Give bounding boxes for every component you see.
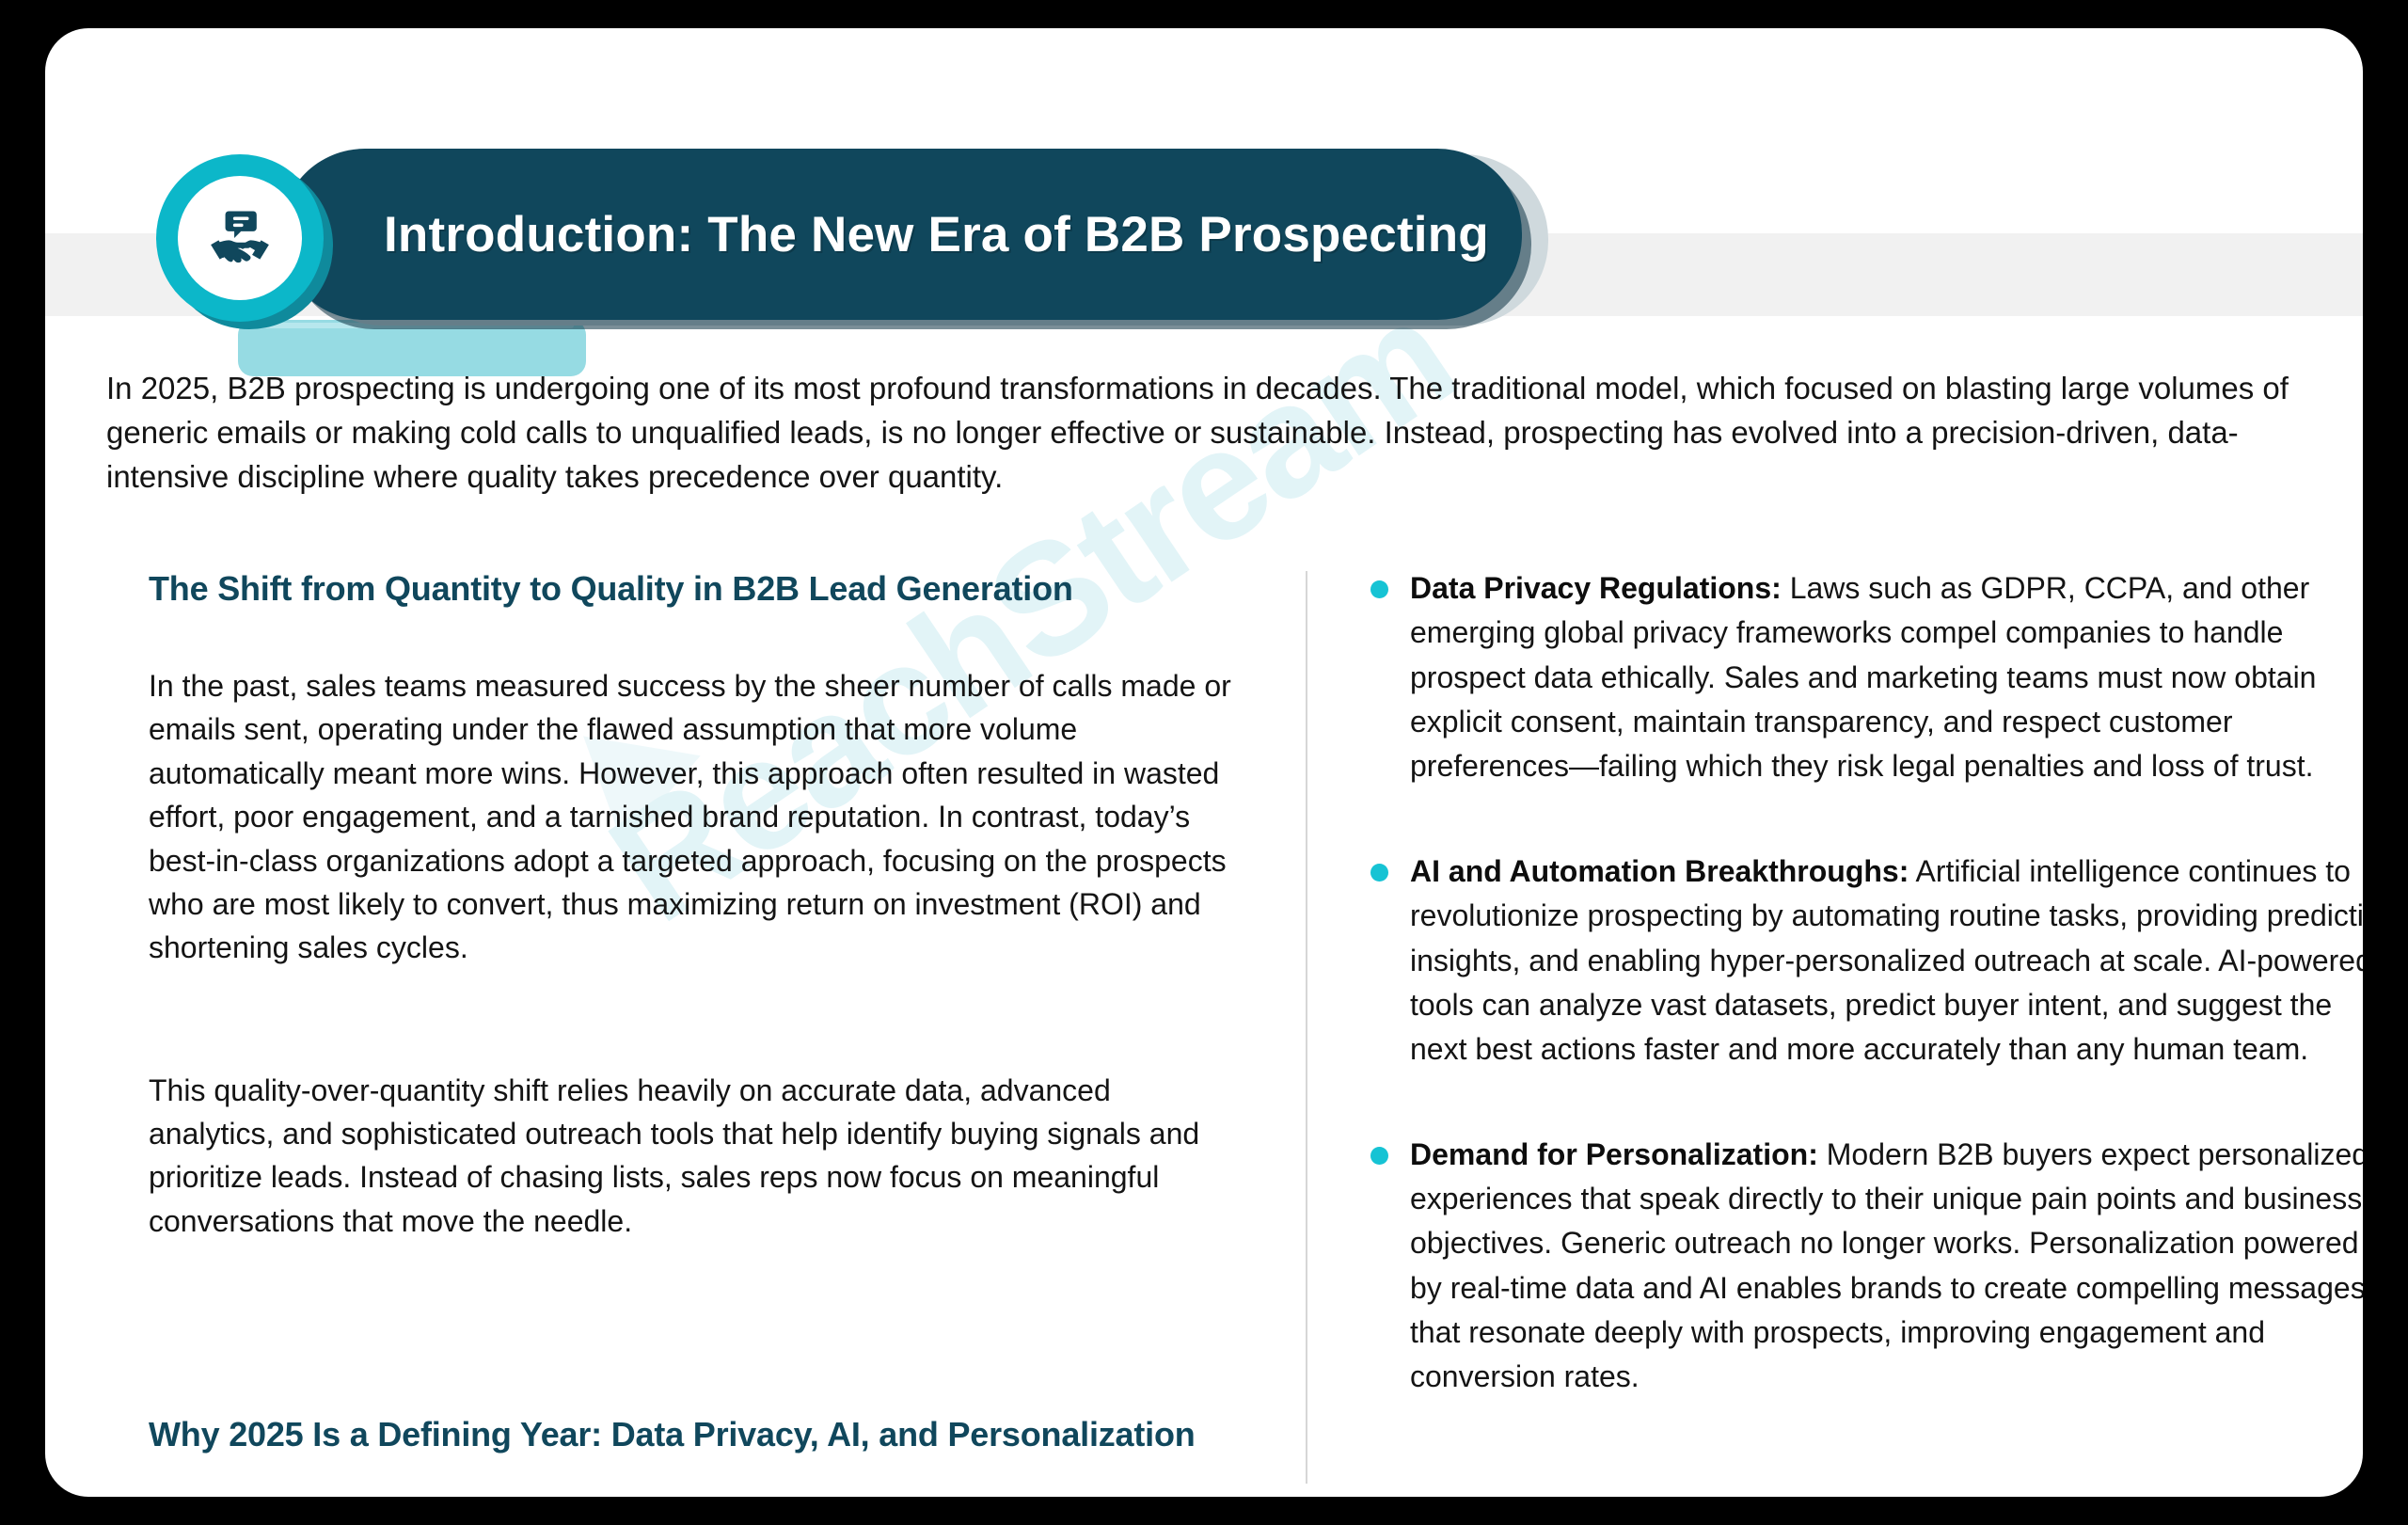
badge-inner-circle — [178, 176, 302, 300]
slide-card: ReachStream Introduction: The New Era of… — [45, 28, 2363, 1497]
bullet-body: Modern B2B buyers expect personalized ex… — [1410, 1137, 2363, 1394]
header-icon-badge — [156, 154, 324, 322]
bullet-lead: AI and Automation Breakthroughs: — [1410, 854, 1909, 888]
content-columns: The Shift from Quantity to Quality in B2… — [106, 566, 2307, 1484]
left-heading-1: The Shift from Quantity to Quality in B2… — [149, 566, 1235, 612]
slide-frame: ReachStream Introduction: The New Era of… — [0, 0, 2408, 1525]
left-column: The Shift from Quantity to Quality in B2… — [149, 566, 1235, 1497]
header-banner: Introduction: The New Era of B2B Prospec… — [280, 149, 1522, 320]
bullet-dot-icon — [1370, 580, 1388, 598]
left-paragraph-2: This quality-over-quantity shift relies … — [149, 1069, 1235, 1244]
left-paragraph-1: In the past, sales teams measured succes… — [149, 664, 1235, 970]
bullet-text: Data Privacy Regulations: Laws such as G… — [1410, 566, 2363, 789]
handshake-message-icon — [204, 202, 276, 274]
list-item: Demand for Personalization: Modern B2B b… — [1367, 1133, 2363, 1400]
intro-block: In 2025, B2B prospecting is undergoing o… — [106, 367, 2298, 500]
bullet-lead: Demand for Personalization: — [1410, 1137, 1818, 1171]
list-item: AI and Automation Breakthroughs: Artific… — [1367, 850, 2363, 1072]
intro-paragraph: In 2025, B2B prospecting is undergoing o… — [106, 367, 2298, 500]
list-item: Data Privacy Regulations: Laws such as G… — [1367, 566, 2363, 789]
bullet-dot-icon — [1370, 1147, 1388, 1165]
page-header: Introduction: The New Era of B2B Prospec… — [45, 141, 2363, 357]
bullet-text: AI and Automation Breakthroughs: Artific… — [1410, 850, 2363, 1072]
bullet-dot-icon — [1370, 864, 1388, 882]
bullet-lead: Data Privacy Regulations: — [1410, 571, 1782, 605]
column-divider — [1306, 571, 1307, 1484]
left-heading-2: Why 2025 Is a Defining Year: Data Privac… — [149, 1412, 1235, 1458]
page-title: Introduction: The New Era of B2B Prospec… — [384, 206, 1489, 263]
right-column: Data Privacy Regulations: Laws such as G… — [1367, 566, 2363, 1400]
bullet-text: Demand for Personalization: Modern B2B b… — [1410, 1133, 2363, 1400]
